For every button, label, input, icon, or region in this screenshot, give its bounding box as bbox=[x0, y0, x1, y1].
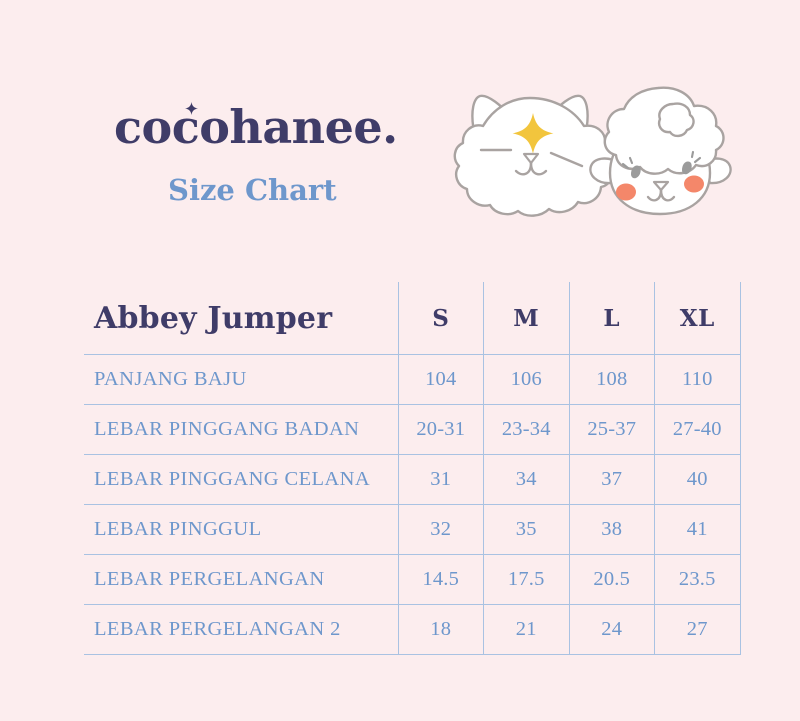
measurement-value-l: 38 bbox=[569, 505, 655, 555]
product-title: Abbey Jumper bbox=[84, 282, 398, 355]
measurement-value-xl: 27-40 bbox=[655, 405, 741, 455]
measurement-value-l: 24 bbox=[569, 605, 655, 655]
measurement-value-xl: 23.5 bbox=[655, 555, 741, 605]
logo-wordmark: cocohanee. bbox=[84, 104, 398, 150]
measurement-value-s: 20-31 bbox=[398, 405, 484, 455]
measurement-label: PANJANG BAJU bbox=[84, 355, 398, 405]
table-row: LEBAR PINGGANG BADAN 20-31 23-34 25-37 2… bbox=[84, 405, 740, 455]
table-row: LEBAR PERGELANGAN 2 18 21 24 27 bbox=[84, 605, 740, 655]
size-chart-table: Abbey Jumper S M L XL PANJANG BAJU 104 1… bbox=[84, 282, 741, 655]
measurement-value-l: 25-37 bbox=[569, 405, 655, 455]
measurement-value-xl: 41 bbox=[655, 505, 741, 555]
measurement-label: LEBAR PINGGANG CELANA bbox=[84, 455, 398, 505]
measurement-label: LEBAR PINGGANG BADAN bbox=[84, 405, 398, 455]
blush-right bbox=[684, 176, 704, 193]
measurement-value-s: 14.5 bbox=[398, 555, 484, 605]
measurement-value-l: 37 bbox=[569, 455, 655, 505]
cat-mascot bbox=[455, 96, 613, 216]
table-row: LEBAR PINGGANG CELANA 31 34 37 40 bbox=[84, 455, 740, 505]
mascot-illustration bbox=[436, 76, 766, 241]
size-chart-subtitle: Size Chart bbox=[84, 176, 424, 205]
blush-left bbox=[616, 184, 636, 201]
size-header-l: L bbox=[569, 282, 655, 355]
size-header-s: S bbox=[398, 282, 484, 355]
measurement-value-m: 106 bbox=[484, 355, 570, 405]
table-row: PANJANG BAJU 104 106 108 110 bbox=[84, 355, 740, 405]
measurement-label: LEBAR PINGGUL bbox=[84, 505, 398, 555]
measurement-value-m: 34 bbox=[484, 455, 570, 505]
sheep-mascot bbox=[590, 88, 730, 214]
measurement-value-xl: 110 bbox=[655, 355, 741, 405]
measurement-value-m: 23-34 bbox=[484, 405, 570, 455]
measurement-label: LEBAR PERGELANGAN 2 bbox=[84, 605, 398, 655]
measurement-value-s: 18 bbox=[398, 605, 484, 655]
measurement-value-l: 20.5 bbox=[569, 555, 655, 605]
table-row: LEBAR PINGGUL 32 35 38 41 bbox=[84, 505, 740, 555]
brand-block: cocohanee. Size Chart bbox=[84, 104, 424, 205]
measurement-value-s: 104 bbox=[398, 355, 484, 405]
size-chart-table-container: Abbey Jumper S M L XL PANJANG BAJU 104 1… bbox=[84, 282, 740, 655]
measurement-value-m: 21 bbox=[484, 605, 570, 655]
measurement-value-xl: 40 bbox=[655, 455, 741, 505]
logo-wordmark-text: cocohanee. bbox=[114, 100, 398, 154]
measurement-label: LEBAR PERGELANGAN bbox=[84, 555, 398, 605]
measurement-value-s: 31 bbox=[398, 455, 484, 505]
size-header-m: M bbox=[484, 282, 570, 355]
measurement-value-xl: 27 bbox=[655, 605, 741, 655]
size-header-xl: XL bbox=[655, 282, 741, 355]
measurement-value-m: 17.5 bbox=[484, 555, 570, 605]
table-row: LEBAR PERGELANGAN 14.5 17.5 20.5 23.5 bbox=[84, 555, 740, 605]
measurement-value-m: 35 bbox=[484, 505, 570, 555]
table-header-row: Abbey Jumper S M L XL bbox=[84, 282, 740, 355]
measurement-value-s: 32 bbox=[398, 505, 484, 555]
mascots-svg bbox=[436, 76, 766, 241]
measurement-value-l: 108 bbox=[569, 355, 655, 405]
